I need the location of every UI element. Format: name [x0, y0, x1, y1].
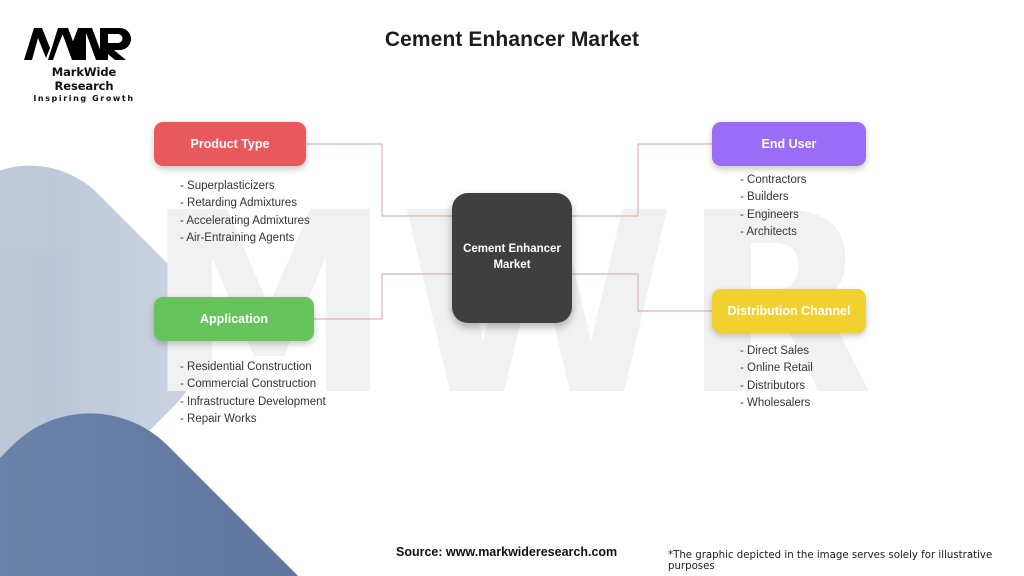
source-attribution: Source: www.markwideresearch.com — [396, 545, 617, 559]
list-item: - Engineers — [740, 207, 806, 224]
list-item: - Contractors — [740, 172, 806, 189]
branch-label-product-type: Product Type — [191, 137, 270, 151]
list-item: - Online Retail — [740, 360, 813, 377]
infographic-canvas: MWR MarkWide Research Inspiring Growth C… — [0, 0, 1024, 576]
list-item: - Residential Construction — [180, 359, 326, 376]
branch-node-end-user[interactable]: End User — [712, 122, 866, 166]
list-item: - Commercial Construction — [180, 376, 326, 393]
list-item: - Accelerating Admixtures — [180, 213, 310, 230]
connector-application — [314, 274, 452, 319]
list-item: - Infrastructure Development — [180, 394, 326, 411]
list-item: - Retarding Admixtures — [180, 195, 310, 212]
disclaimer-note: *The graphic depicted in the image serve… — [668, 550, 1024, 572]
hub-label-line-1: Cement Enhancer — [463, 243, 561, 255]
list-item: - Builders — [740, 189, 806, 206]
list-item: - Wholesalers — [740, 395, 813, 412]
branch-node-distribution-channel[interactable]: Distribution Channel — [712, 289, 866, 333]
branch-label-application: Application — [200, 312, 268, 326]
connector-end-user — [572, 144, 712, 216]
item-list-end-user: - Contractors - Builders - Engineers - A… — [740, 172, 806, 242]
list-item: - Direct Sales — [740, 343, 813, 360]
item-list-product-type: - Superplasticizers - Retarding Admixtur… — [180, 178, 310, 248]
connector-product-type — [306, 144, 452, 216]
item-list-application: - Residential Construction - Commercial … — [180, 359, 326, 429]
hub-node-cement-enhancer-market[interactable]: Cement Enhancer Market — [452, 193, 572, 323]
branch-label-distribution-channel: Distribution Channel — [728, 304, 851, 318]
list-item: - Repair Works — [180, 411, 326, 428]
hub-label-line-2: Market — [493, 259, 530, 271]
connector-distribution-channel — [572, 274, 712, 311]
branch-label-end-user: End User — [762, 137, 817, 151]
branch-node-product-type[interactable]: Product Type — [154, 122, 306, 166]
list-item: - Superplasticizers — [180, 178, 310, 195]
branch-node-application[interactable]: Application — [154, 297, 314, 341]
list-item: - Air-Entraining Agents — [180, 230, 310, 247]
list-item: - Architects — [740, 224, 806, 241]
list-item: - Distributors — [740, 378, 813, 395]
item-list-distribution-channel: - Direct Sales - Online Retail - Distrib… — [740, 343, 813, 413]
